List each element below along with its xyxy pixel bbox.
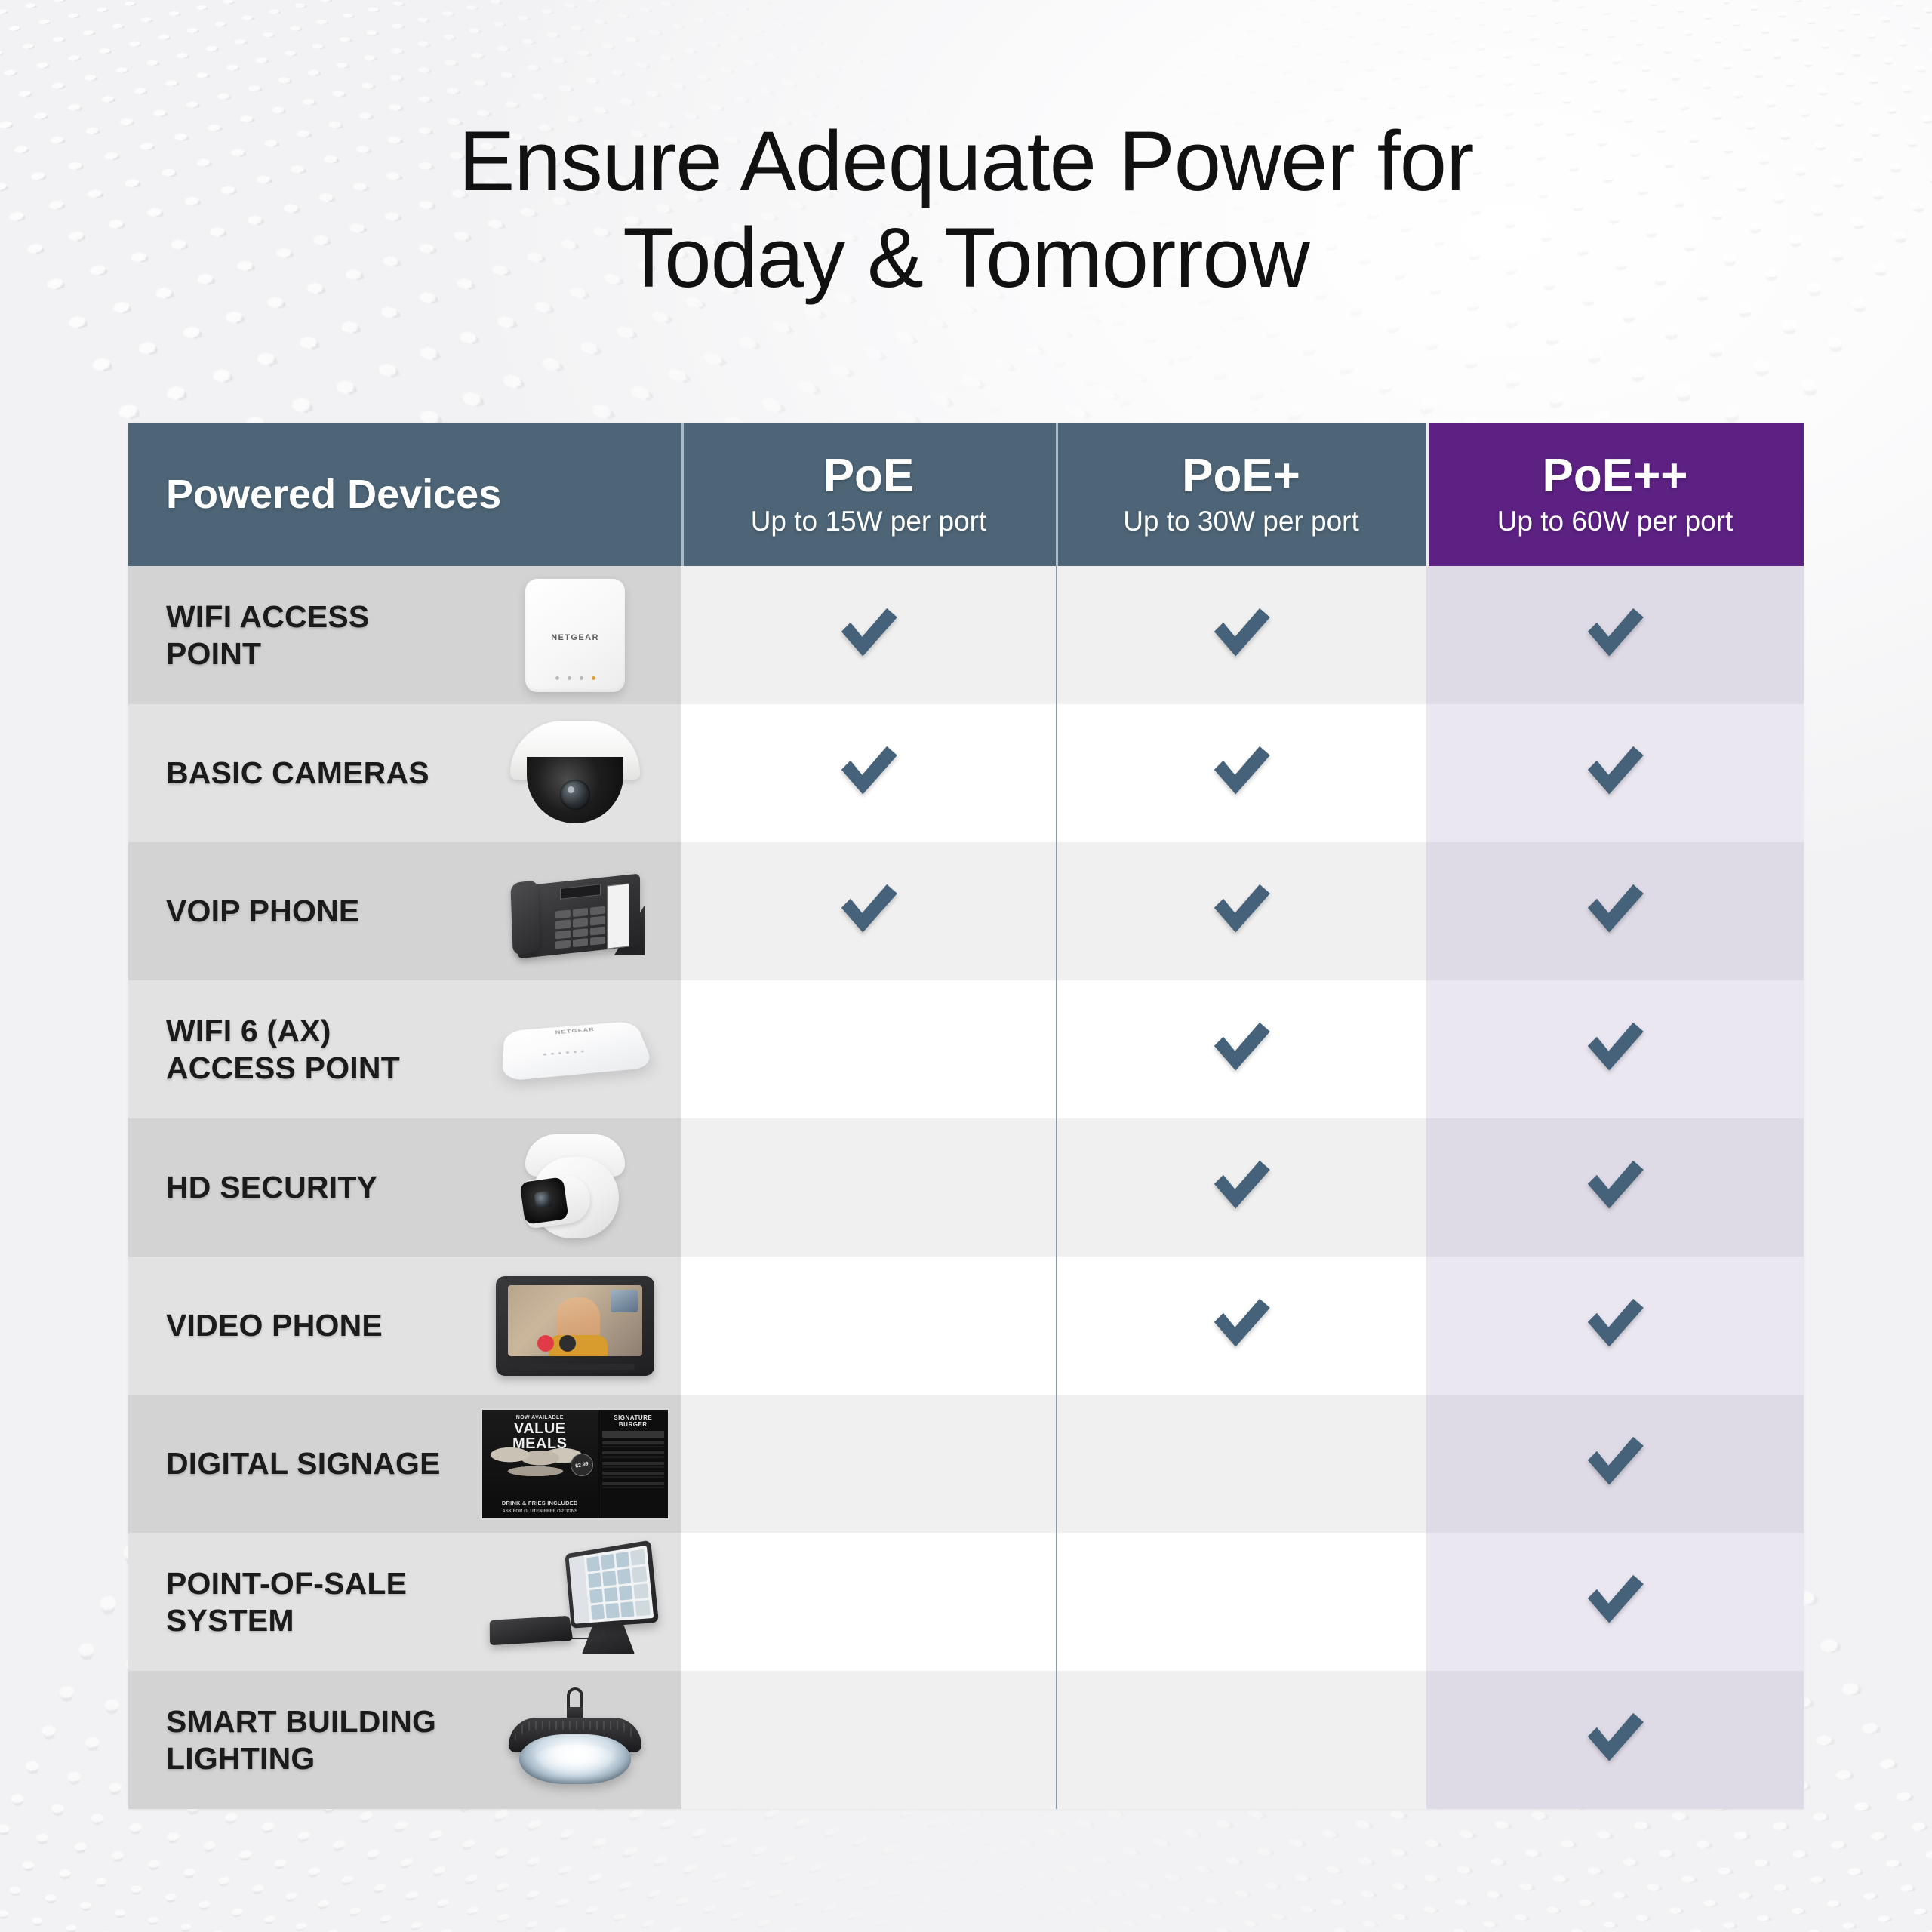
high-bay-led-light-image <box>501 1687 649 1793</box>
column-header-powered-devices: Powered Devices <box>128 423 681 566</box>
checkmark-icon <box>1583 741 1647 806</box>
table-row: POINT-OF-SALESYSTEM <box>128 1533 1804 1671</box>
device-thumbnail <box>481 1679 669 1801</box>
checkmark-icon <box>1209 603 1274 668</box>
support-cell-poe-plus-plus <box>1426 1671 1804 1809</box>
video-phone-display-image <box>496 1276 654 1376</box>
device-label: WIFI ACCESSPOINT <box>166 598 453 672</box>
status-led-row <box>525 676 625 680</box>
point-of-sale-terminal-image <box>488 1546 662 1659</box>
device-label-cell: VOIP PHONE <box>128 842 681 980</box>
table-header-row: Powered Devices PoE Up to 15W per port P… <box>128 423 1804 566</box>
checkmark-icon <box>1583 1017 1647 1082</box>
column-header-poe-plus: PoE+ Up to 30W per port <box>1056 423 1426 566</box>
device-thumbnail: NETGEAR <box>481 574 669 697</box>
support-cell-poe-plus <box>1056 1533 1426 1671</box>
support-cell-poe <box>681 842 1056 980</box>
table-body: WIFI ACCESSPOINT NETGEAR BASIC CAMERAS V… <box>128 566 1804 1809</box>
signage-gluten-line: ASK FOR GLUTEN FREE OPTIONS <box>482 1509 598 1514</box>
device-thumbnail: NOW AVAILABLE VALUE MEALS $2.99 DRINK & … <box>481 1403 669 1525</box>
table-row: HD SECURITY <box>128 1118 1804 1257</box>
device-thumbnail <box>481 712 669 835</box>
page-title: Ensure Adequate Power for Today & Tomorr… <box>0 113 1932 306</box>
column-header-sublabel: Up to 15W per port <box>751 506 987 537</box>
column-header-sublabel: Up to 30W per port <box>1123 506 1359 537</box>
column-header-label: Powered Devices <box>166 473 501 516</box>
device-label-cell: VIDEO PHONE <box>128 1257 681 1395</box>
support-cell-poe <box>681 1118 1056 1257</box>
device-label-cell: POINT-OF-SALESYSTEM <box>128 1533 681 1671</box>
support-cell-poe-plus <box>1056 1671 1426 1809</box>
support-cell-poe-plus <box>1056 1257 1426 1395</box>
table-row: VIDEO PHONE <box>128 1257 1804 1395</box>
support-cell-poe-plus-plus <box>1426 980 1804 1118</box>
checkmark-icon <box>1583 603 1647 668</box>
support-cell-poe-plus-plus <box>1426 1118 1804 1257</box>
table-row: DIGITAL SIGNAGE NOW AVAILABLE VALUE MEAL… <box>128 1395 1804 1533</box>
device-label: SMART BUILDINGLIGHTING <box>166 1703 453 1777</box>
signage-menu-title: SIGNATURE BURGER <box>602 1414 664 1428</box>
page-title-line-2: Today & Tomorrow <box>0 210 1932 306</box>
dome-camera-image <box>510 721 640 826</box>
support-cell-poe <box>681 1533 1056 1671</box>
signage-drink-line: DRINK & FRIES INCLUDED <box>482 1500 598 1506</box>
support-cell-poe <box>681 1671 1056 1809</box>
support-cell-poe <box>681 980 1056 1118</box>
checkmark-icon <box>1209 1017 1274 1082</box>
checkmark-icon <box>836 603 901 668</box>
poe-comparison-table: Powered Devices PoE Up to 15W per port P… <box>128 423 1804 1809</box>
checkmark-icon <box>1583 1294 1647 1358</box>
device-label-cell: WIFI ACCESSPOINT NETGEAR <box>128 566 681 704</box>
column-header-sublabel: Up to 60W per port <box>1497 506 1734 537</box>
support-cell-poe-plus <box>1056 980 1426 1118</box>
column-header-label: PoE++ <box>1543 451 1688 500</box>
signage-now-available-text: NOW AVAILABLE <box>487 1415 593 1420</box>
support-cell-poe-plus <box>1056 704 1426 842</box>
device-label-cell: BASIC CAMERAS <box>128 704 681 842</box>
support-cell-poe-plus <box>1056 842 1426 980</box>
checkmark-icon <box>1209 741 1274 806</box>
device-label-cell: HD SECURITY <box>128 1118 681 1257</box>
table-row: BASIC CAMERAS <box>128 704 1804 842</box>
support-cell-poe <box>681 566 1056 704</box>
checkmark-icon <box>836 879 901 944</box>
device-label: DIGITAL SIGNAGE <box>166 1445 453 1481</box>
support-cell-poe-plus-plus <box>1426 1257 1804 1395</box>
column-header-poe: PoE Up to 15W per port <box>681 423 1056 566</box>
device-thumbnail: NETGEAR <box>481 989 669 1111</box>
support-cell-poe <box>681 1395 1056 1533</box>
column-header-label: PoE+ <box>1182 451 1300 500</box>
device-label: HD SECURITY <box>166 1169 453 1205</box>
ceiling-access-point-image: NETGEAR <box>500 1004 651 1095</box>
device-label: VIDEO PHONE <box>166 1307 453 1343</box>
device-label: BASIC CAMERAS <box>166 755 453 791</box>
device-label: WIFI 6 (AX)ACCESS POINT <box>166 1013 453 1086</box>
support-cell-poe-plus-plus <box>1426 566 1804 704</box>
device-thumbnail <box>481 851 669 973</box>
table-row: WIFI ACCESSPOINT NETGEAR <box>128 566 1804 704</box>
column-header-poe-plus-plus: PoE++ Up to 60W per port <box>1426 423 1804 566</box>
digital-signage-screen-image: NOW AVAILABLE VALUE MEALS $2.99 DRINK & … <box>481 1408 669 1520</box>
support-cell-poe-plus-plus <box>1426 1395 1804 1533</box>
support-cell-poe-plus <box>1056 566 1426 704</box>
turret-security-camera-image <box>512 1131 638 1244</box>
checkmark-icon <box>1583 1708 1647 1773</box>
device-label-cell: DIGITAL SIGNAGE NOW AVAILABLE VALUE MEAL… <box>128 1395 681 1533</box>
checkmark-icon <box>1583 1432 1647 1497</box>
support-cell-poe-plus <box>1056 1118 1426 1257</box>
device-thumbnail <box>481 1127 669 1249</box>
column-header-label: PoE <box>823 451 915 500</box>
device-thumbnail <box>481 1265 669 1387</box>
netgear-brand-text: NETGEAR <box>525 633 625 642</box>
device-label-cell: WIFI 6 (AX)ACCESS POINT NETGEAR <box>128 980 681 1118</box>
table-row: VOIP PHONE <box>128 842 1804 980</box>
wifi-access-point-image: NETGEAR <box>525 579 625 692</box>
device-label-cell: SMART BUILDINGLIGHTING <box>128 1671 681 1809</box>
support-cell-poe-plus-plus <box>1426 842 1804 980</box>
page-title-line-1: Ensure Adequate Power for <box>0 113 1932 210</box>
checkmark-icon <box>1583 1155 1647 1220</box>
checkmark-icon <box>1209 879 1274 944</box>
support-cell-poe-plus-plus <box>1426 1533 1804 1671</box>
checkmark-icon <box>836 741 901 806</box>
device-thumbnail <box>481 1541 669 1663</box>
support-cell-poe-plus-plus <box>1426 704 1804 842</box>
support-cell-poe <box>681 704 1056 842</box>
checkmark-icon <box>1583 1570 1647 1635</box>
checkmark-icon <box>1583 879 1647 944</box>
support-cell-poe <box>681 1257 1056 1395</box>
device-label: POINT-OF-SALESYSTEM <box>166 1565 453 1638</box>
table-row: WIFI 6 (AX)ACCESS POINT NETGEAR <box>128 980 1804 1118</box>
table-row: SMART BUILDINGLIGHTING <box>128 1671 1804 1809</box>
checkmark-icon <box>1209 1294 1274 1358</box>
device-label: VOIP PHONE <box>166 893 453 929</box>
voip-desk-phone-image <box>501 859 649 964</box>
support-cell-poe-plus <box>1056 1395 1426 1533</box>
checkmark-icon <box>1209 1155 1274 1220</box>
